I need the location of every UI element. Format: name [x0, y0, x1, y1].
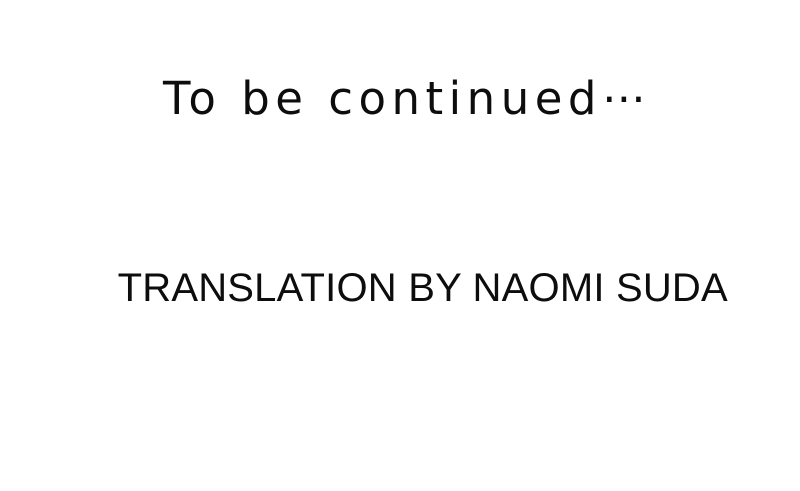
- translator-credit-text: TRANSLATION BY NAOMI SUDA: [0, 216, 800, 360]
- endcard-page: To be continued⋯ TRANSLATION BY NAOMI SU…: [0, 0, 800, 491]
- to-be-continued-label: To be continued: [163, 72, 602, 125]
- translator-credit-label: TRANSLATION BY NAOMI SUDA: [118, 266, 728, 310]
- to-be-continued-text: To be continued⋯: [0, 70, 800, 128]
- ellipsis-icon: ⋯: [602, 73, 649, 124]
